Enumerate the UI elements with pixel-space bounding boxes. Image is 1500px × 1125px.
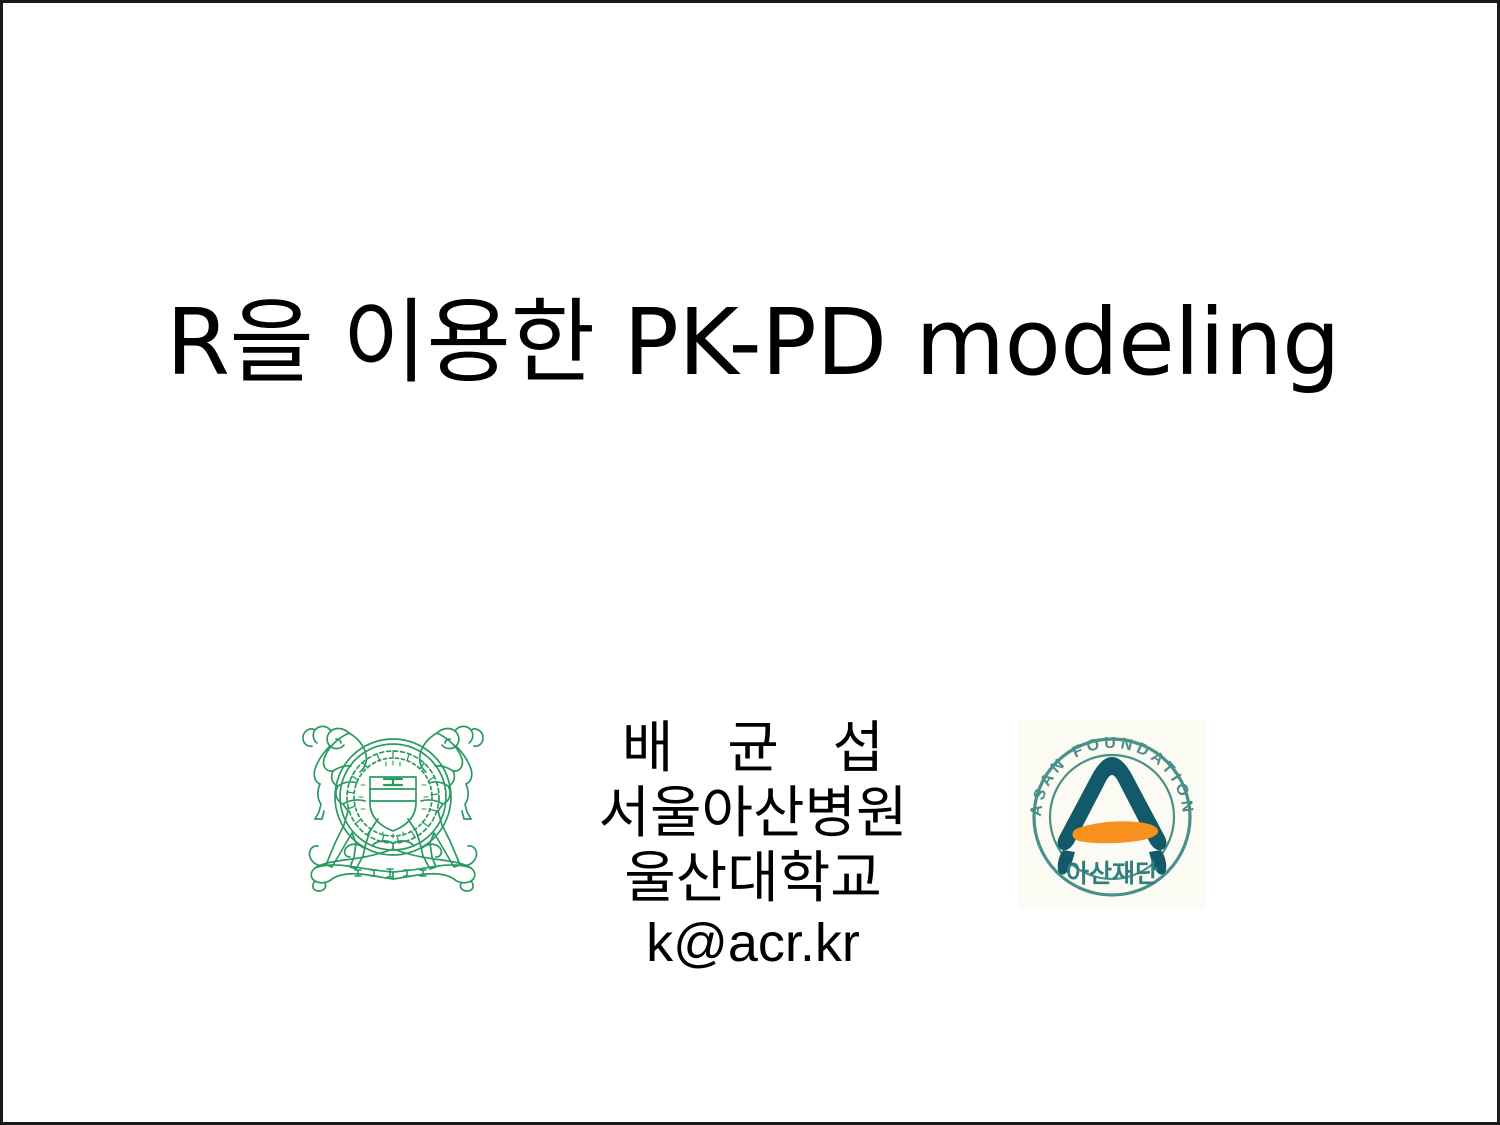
asan-korean-text: 아산재단 [1066,859,1158,888]
presenter-name: 배 균 섭 [503,717,1003,782]
asan-foundation-seal-icon: ASAN FOUNDATION 아산재단 [1019,719,1205,909]
title-block: R을 이용한 PK-PD modeling [3,291,1500,394]
hospital-name: 서울아산병원 [503,782,1003,847]
ulsan-crest-icon [286,715,500,911]
ulsan-university-crest-logo [286,715,500,911]
contact-email: k@acr.kr [503,912,1003,976]
page-title: R을 이용한 PK-PD modeling [166,291,1340,394]
university-name: 울산대학교 [503,847,1003,912]
asan-foundation-logo: ASAN FOUNDATION 아산재단 [1019,719,1205,909]
presentation-slide: R을 이용한 PK-PD modeling [0,0,1500,1125]
affiliation-block: 배 균 섭 서울아산병원 울산대학교 k@acr.kr [503,717,1003,976]
